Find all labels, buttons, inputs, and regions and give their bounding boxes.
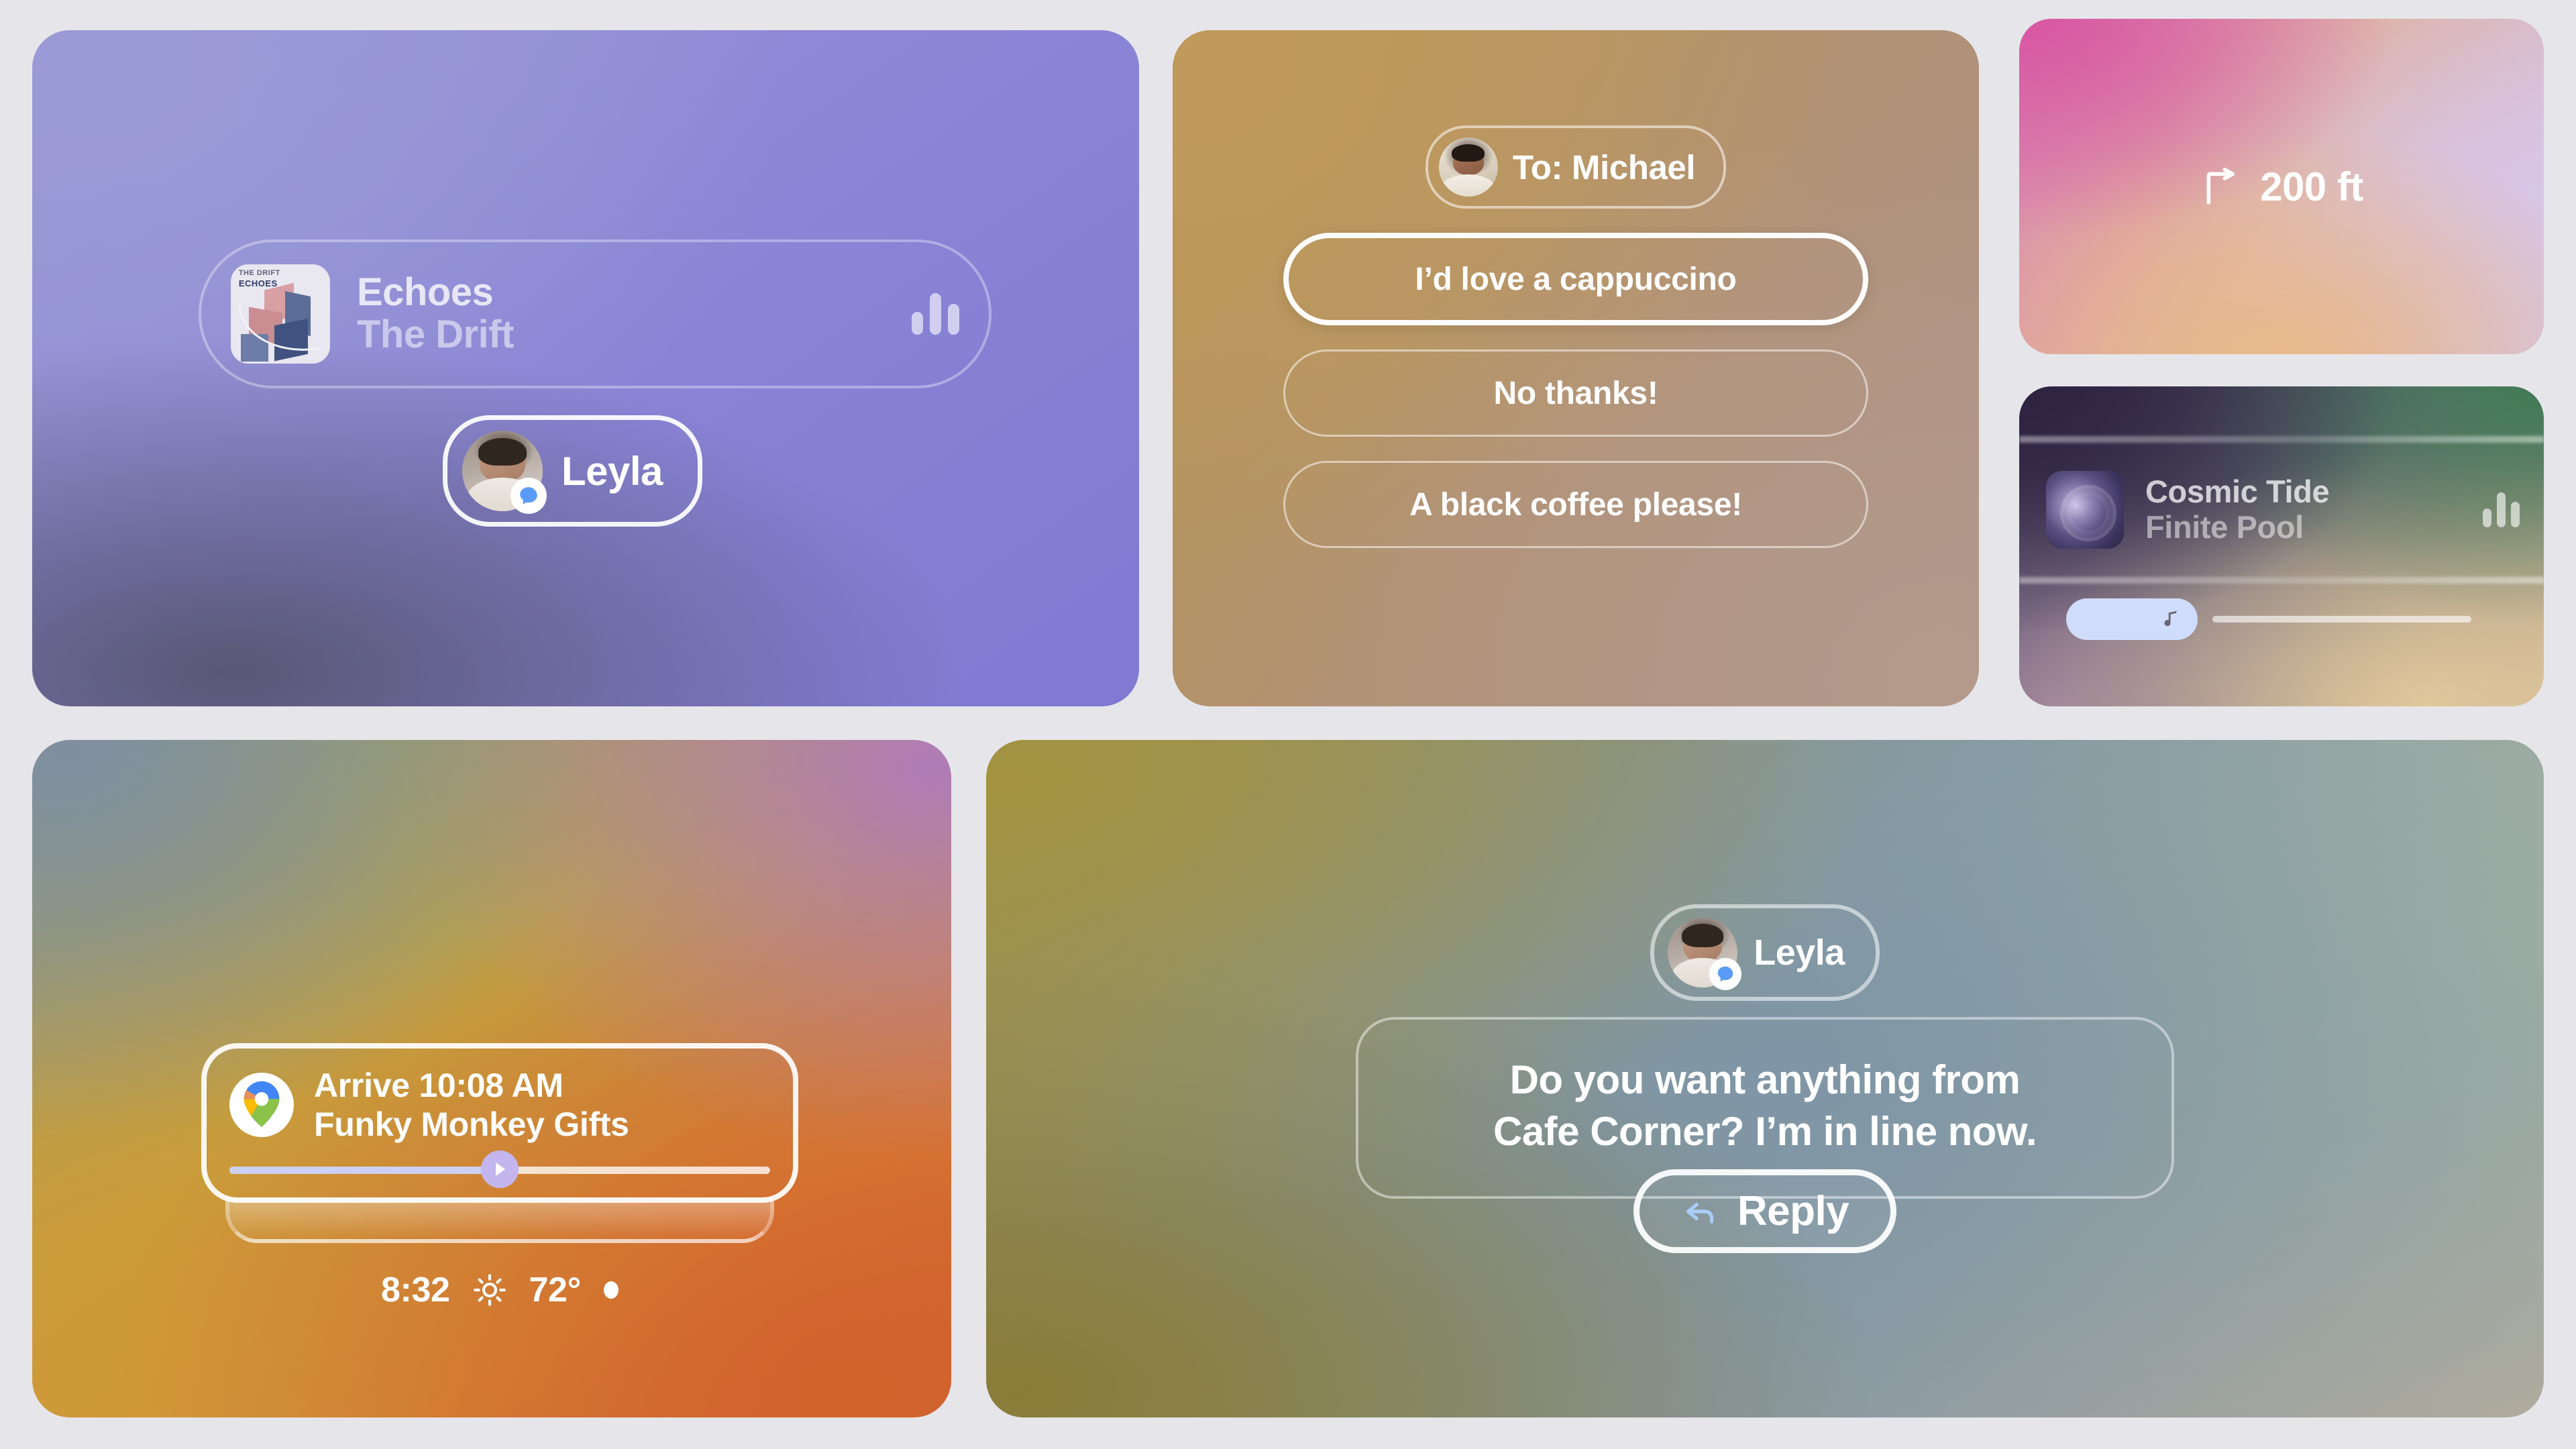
reply-option-2[interactable]: No thanks! bbox=[1283, 350, 1868, 437]
google-messages-icon bbox=[1709, 958, 1741, 990]
maps-destination: Funky Monkey Gifts bbox=[314, 1105, 629, 1144]
equalizer-icon bbox=[912, 293, 959, 335]
sender-name: Leyla bbox=[1754, 932, 1845, 973]
message-stack: Leyla Do you want anything from Cafe Cor… bbox=[986, 740, 2544, 1417]
track-title: Cosmic Tide bbox=[2145, 474, 2461, 509]
turn-right-icon bbox=[2200, 165, 2243, 208]
cosmic-player-bar[interactable] bbox=[2066, 598, 2514, 640]
reply-option-3[interactable]: A black coffee please! bbox=[1283, 461, 1868, 548]
now-playing-card[interactable]: THE DRIFT ECHOES Echoes The Drift Leyla bbox=[32, 30, 1139, 706]
widget-board: THE DRIFT ECHOES Echoes The Drift Leyla bbox=[0, 0, 2576, 1449]
maps-navigation-card[interactable]: Arrive 10:08 AM Funky Monkey Gifts 8:32 bbox=[32, 740, 951, 1417]
track-artist: Finite Pool bbox=[2145, 509, 2461, 545]
album-art bbox=[2046, 471, 2124, 549]
smart-replies-card[interactable]: To: Michael I’d love a cappuccino No tha… bbox=[1173, 30, 1979, 706]
incoming-message-card[interactable]: Leyla Do you want anything from Cafe Cor… bbox=[986, 740, 2544, 1417]
equalizer-icon bbox=[2483, 492, 2520, 527]
divider bbox=[2019, 436, 2544, 443]
status-time: 8:32 bbox=[381, 1270, 449, 1310]
sender-name: Leyla bbox=[561, 448, 663, 494]
music-pill[interactable] bbox=[2066, 598, 2198, 640]
recipient-chip[interactable]: To: Michael bbox=[1426, 125, 1726, 209]
maps-eta-panel[interactable]: Arrive 10:08 AM Funky Monkey Gifts bbox=[201, 1043, 798, 1203]
mini-player[interactable]: THE DRIFT ECHOES Echoes The Drift bbox=[199, 239, 991, 388]
album-art-label-artist: THE DRIFT bbox=[239, 269, 280, 277]
navigation-arrow-icon bbox=[490, 1160, 509, 1179]
album-art: THE DRIFT ECHOES bbox=[231, 264, 330, 364]
sender-chip[interactable]: Leyla bbox=[443, 415, 702, 527]
sun-icon bbox=[473, 1273, 506, 1307]
navigation-maneuver: 200 ft bbox=[2200, 164, 2363, 210]
sender-chip[interactable]: Leyla bbox=[1650, 904, 1880, 1001]
track-meta: Echoes The Drift bbox=[357, 272, 885, 356]
google-maps-pin-icon bbox=[229, 1073, 294, 1137]
smart-replies-list: To: Michael I’d love a cappuccino No tha… bbox=[1173, 125, 1979, 548]
reply-button-label: Reply bbox=[1737, 1187, 1849, 1235]
status-temperature: 72° bbox=[529, 1270, 581, 1310]
cosmic-tide-player-card[interactable]: Cosmic Tide Finite Pool bbox=[2019, 386, 2544, 706]
google-messages-icon bbox=[511, 478, 547, 514]
music-note-icon bbox=[2160, 606, 2183, 632]
avatar bbox=[462, 431, 543, 511]
message-body-line-1: Do you want anything from bbox=[1400, 1055, 2130, 1106]
status-row: 8:32 72° bbox=[201, 1270, 798, 1310]
cosmic-progress-track[interactable] bbox=[2212, 616, 2471, 623]
maps-progress-bar[interactable] bbox=[229, 1164, 770, 1175]
navigation-distance: 200 ft bbox=[2260, 164, 2363, 210]
reply-button[interactable]: Reply bbox=[1633, 1169, 1896, 1253]
track-title: Echoes bbox=[357, 272, 885, 313]
reply-option-label: No thanks! bbox=[1493, 375, 1658, 412]
avatar bbox=[1668, 918, 1737, 987]
maps-eta-text: Arrive 10:08 AM Funky Monkey Gifts bbox=[314, 1066, 629, 1144]
progress-fill bbox=[229, 1167, 500, 1174]
divider bbox=[2019, 577, 2544, 584]
reply-option-label: I’d love a cappuccino bbox=[1415, 261, 1736, 298]
reply-option-1[interactable]: I’d love a cappuccino bbox=[1283, 233, 1868, 325]
avatar bbox=[1439, 138, 1498, 197]
track-artist: The Drift bbox=[357, 313, 885, 356]
maps-eta-row: Arrive 10:08 AM Funky Monkey Gifts bbox=[229, 1066, 770, 1144]
status-dot bbox=[604, 1281, 619, 1299]
track-meta: Cosmic Tide Finite Pool bbox=[2145, 474, 2461, 545]
reply-option-label: A black coffee please! bbox=[1409, 486, 1742, 523]
navigation-card[interactable]: 200 ft bbox=[2019, 19, 2544, 354]
cosmic-track-row: Cosmic Tide Finite Pool bbox=[2046, 471, 2520, 549]
album-art-label-title: ECHOES bbox=[239, 278, 278, 288]
maps-eta: Arrive 10:08 AM bbox=[314, 1066, 629, 1105]
recipient-label: To: Michael bbox=[1513, 148, 1695, 187]
message-body-line-2: Cafe Corner? I’m in line now. bbox=[1400, 1106, 2130, 1158]
progress-thumb[interactable] bbox=[481, 1150, 519, 1188]
reply-arrow-icon bbox=[1681, 1193, 1719, 1230]
